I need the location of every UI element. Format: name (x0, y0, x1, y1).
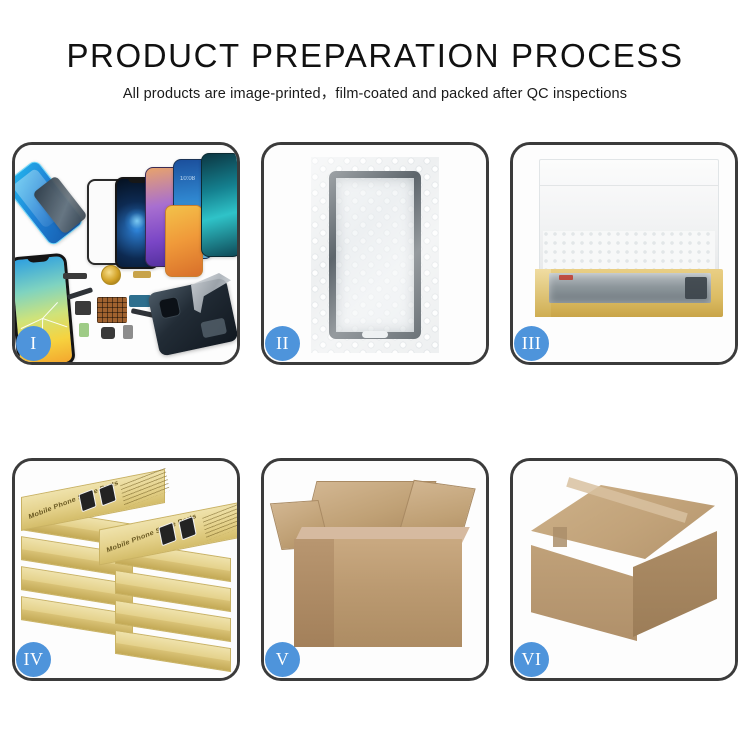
step-badge-5: V (265, 642, 300, 677)
wireless-charging-coil-icon (101, 265, 121, 285)
flex-cable-icon (67, 287, 93, 300)
step-image-1: 10:08 (15, 145, 237, 362)
teal-wave-phone-icon (201, 153, 237, 257)
crack-line (42, 302, 58, 319)
crack-line (42, 318, 67, 327)
step-badge-2: II (265, 326, 300, 361)
small-part (133, 271, 151, 278)
small-part (101, 327, 115, 339)
page-subtitle: All products are image-printed，film-coat… (0, 84, 750, 104)
gold-back-cover-icon (165, 205, 203, 277)
step-badge-3: III (514, 326, 549, 361)
small-part (123, 325, 133, 339)
box-print-phone (98, 483, 116, 507)
page-header: PRODUCT PREPARATION PROCESS All products… (0, 36, 750, 104)
carton-left-face (294, 539, 334, 647)
camera-module-icon (158, 296, 182, 320)
phone-status-text: 10:08 (180, 176, 195, 182)
step-panel-5: V (261, 458, 489, 681)
carton-seam-mark (553, 527, 567, 547)
wrapped-screen-in-box-icon (549, 273, 711, 303)
red-label-marker (559, 275, 573, 280)
step-badge-1: I (16, 326, 51, 361)
kraft-box-stack: Mobile Phone Spare Parts Mobile Phone Sp… (21, 471, 237, 675)
step-panel-3: III (510, 142, 738, 365)
step-badge-4: IV (16, 642, 51, 677)
battery-icon (200, 318, 227, 339)
product-preparation-page: PRODUCT PREPARATION PROCESS All products… (0, 0, 750, 750)
small-part (79, 323, 89, 337)
phone-parts-scene: 10:08 (15, 145, 237, 362)
step-panel-2: II (261, 142, 489, 365)
step-image-6 (513, 461, 735, 678)
small-part (63, 273, 87, 279)
box-print-phone (78, 489, 96, 513)
process-step-grid: 10:08 (12, 142, 738, 681)
step-image-5 (264, 461, 486, 678)
logic-board-chip-icon (97, 297, 127, 323)
step-image-2 (264, 145, 486, 362)
film-sheen-overlay (311, 157, 439, 353)
small-part (75, 301, 91, 315)
step-panel-1: 10:08 (12, 142, 240, 365)
step-badge-6: VI (514, 642, 549, 677)
sealed-carton-front-face (531, 545, 637, 641)
step-panel-4: Mobile Phone Spare Parts Mobile Phone Sp… (12, 458, 240, 681)
step-panel-6: VI (510, 458, 738, 681)
box-print-text-lines (202, 500, 237, 540)
page-title: PRODUCT PREPARATION PROCESS (0, 36, 750, 76)
step-image-4: Mobile Phone Spare Parts Mobile Phone Sp… (15, 461, 237, 678)
small-part (129, 295, 151, 307)
box-print-text-lines (120, 468, 170, 508)
step-image-3 (513, 145, 735, 362)
